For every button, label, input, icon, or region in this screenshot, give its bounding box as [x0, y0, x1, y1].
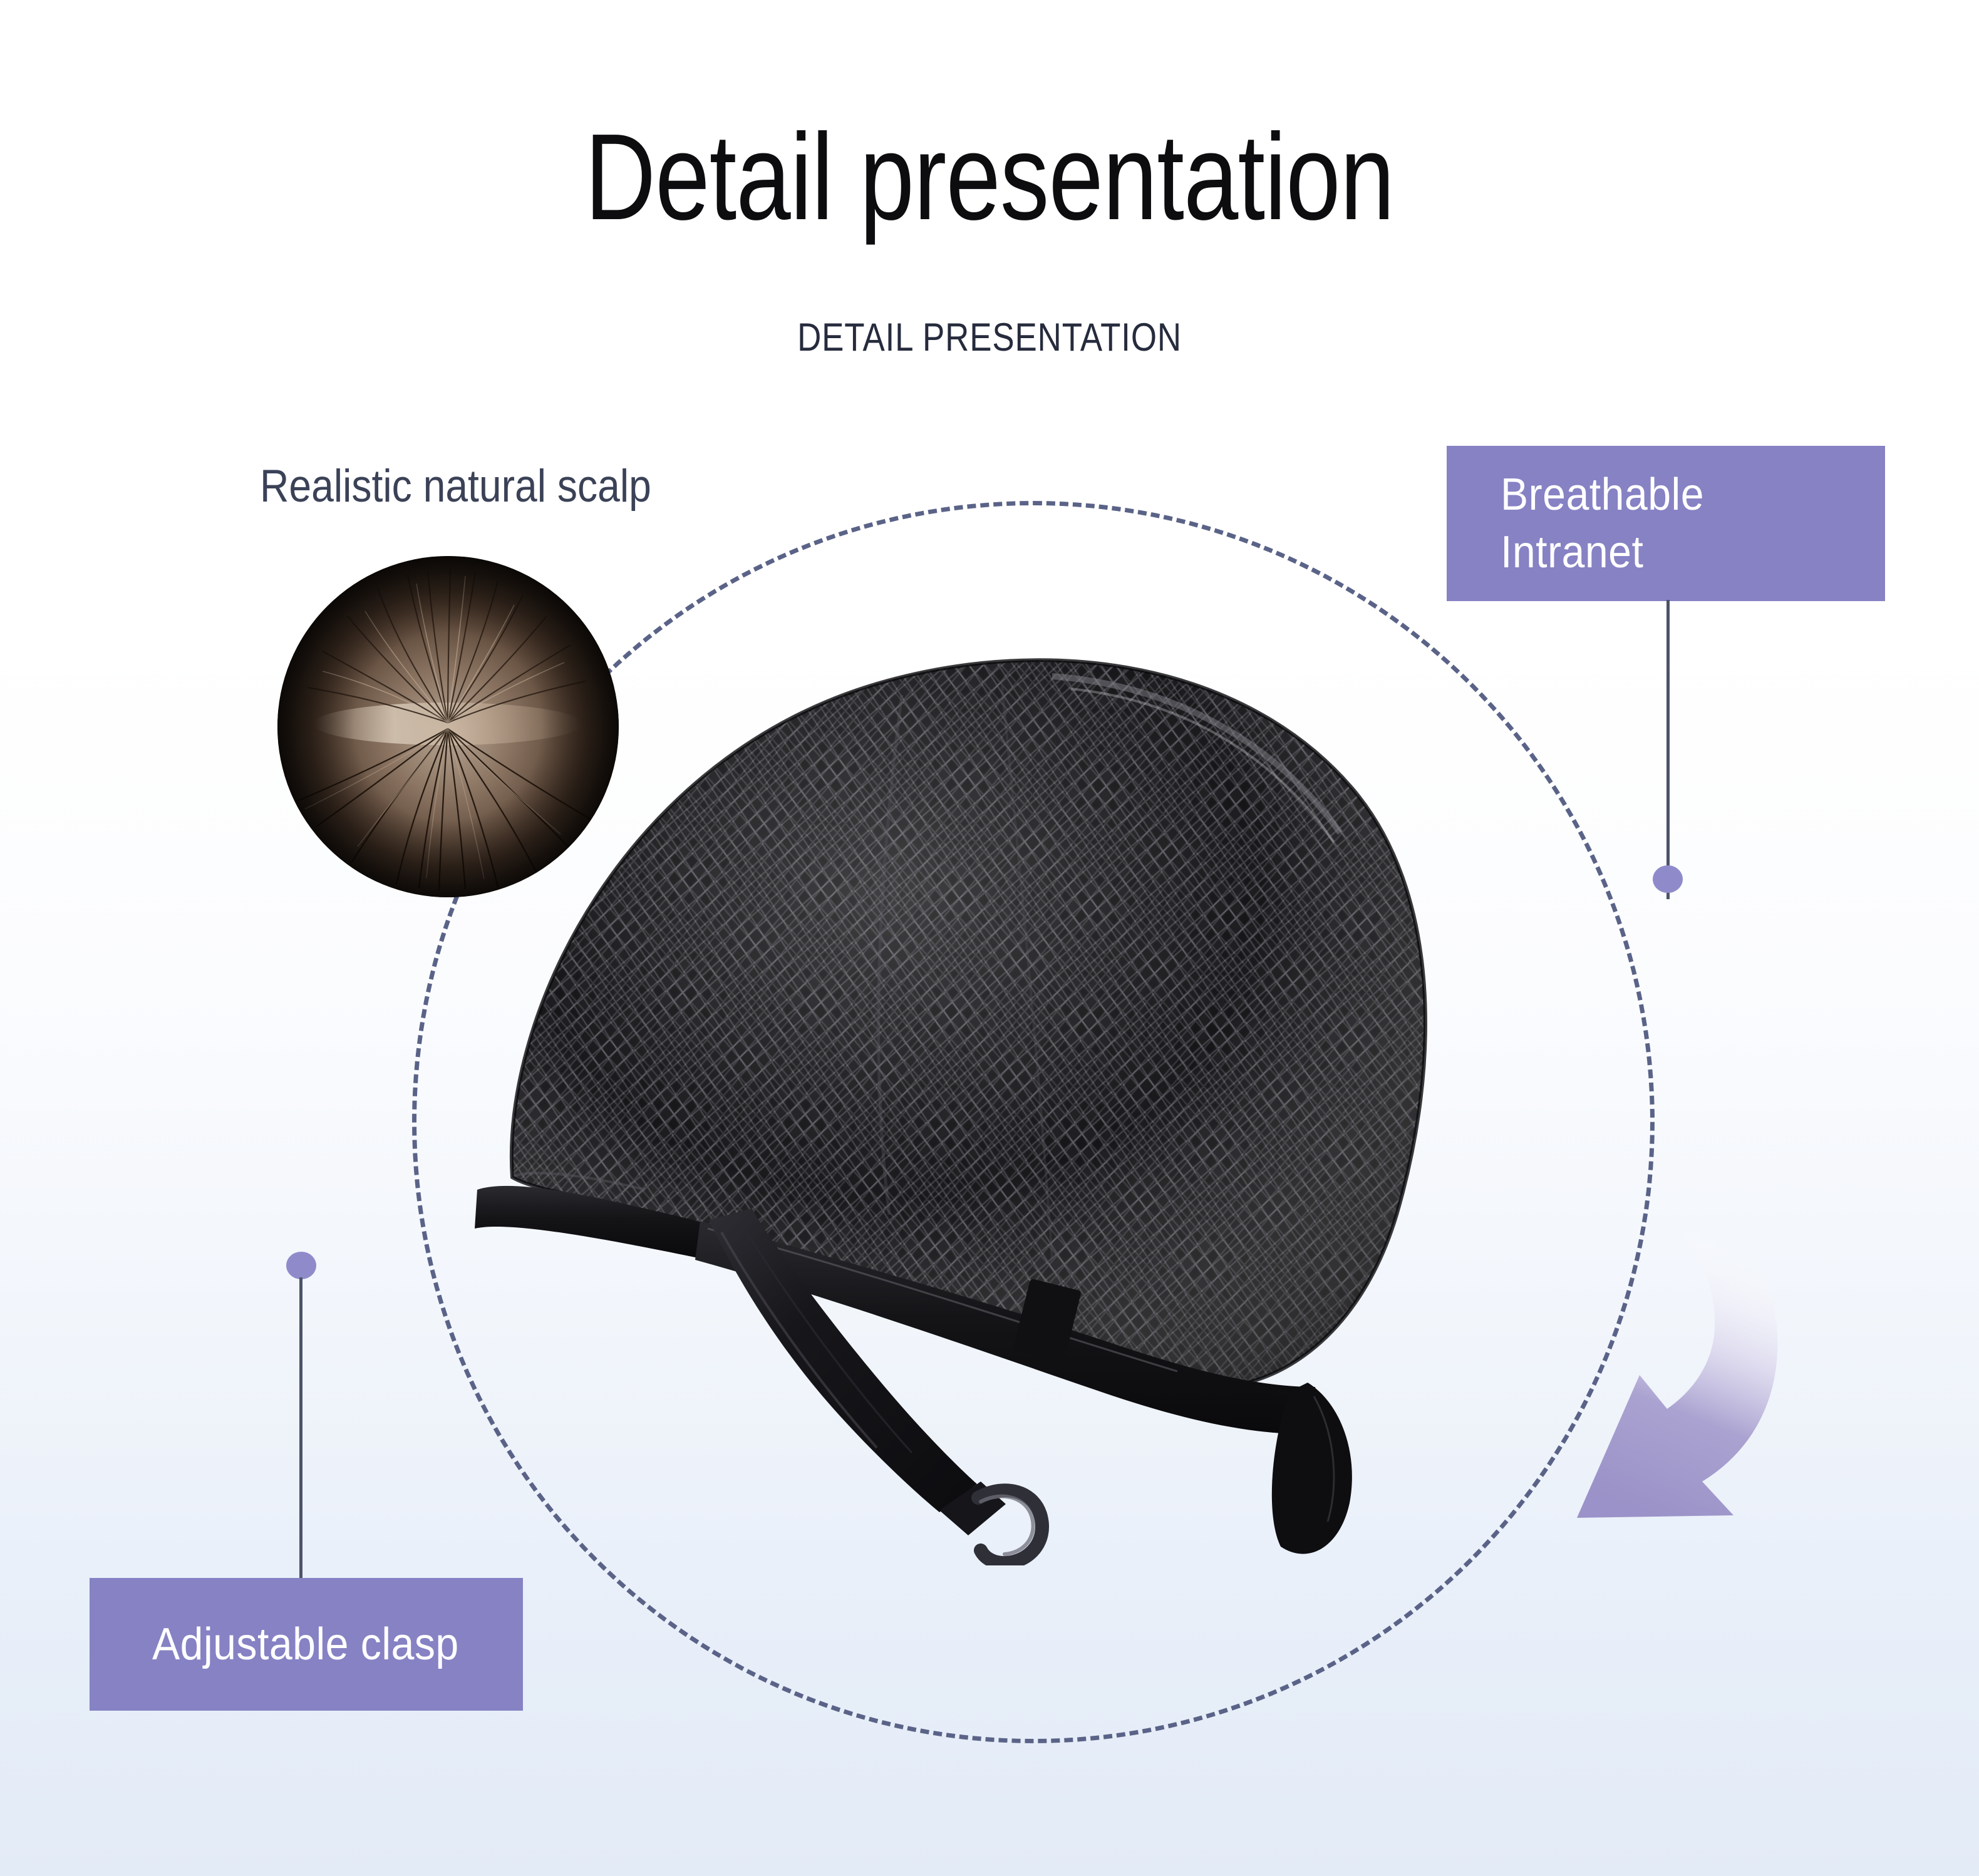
page-subtitle: DETAIL PRESENTATION: [158, 318, 1821, 358]
realistic-scalp-label: Realistic natural scalp: [260, 463, 651, 509]
badge-breathable-intranet[interactable]: Breathable Intranet: [1447, 446, 1885, 601]
callout-line-clasp: [299, 1277, 302, 1590]
badge-breathable-line1: Breathable: [1501, 466, 1704, 523]
page-title: Detail presentation: [198, 116, 1781, 239]
badge-breathable-line2: Intranet: [1501, 523, 1704, 581]
infographic-canvas: Detail presentation DETAIL PRESENTATION …: [0, 0, 1979, 1876]
callout-dot-breathable: [1653, 865, 1683, 893]
curved-down-left-arrow-icon: [1534, 1221, 1923, 1547]
badge-adjustable-clasp[interactable]: Adjustable clasp: [90, 1578, 523, 1711]
callout-line-breathable: [1666, 600, 1670, 899]
badge-clasp-text: Adjustable clasp: [152, 1616, 459, 1673]
callout-dot-clasp: [286, 1252, 316, 1279]
badge-breathable-text: Breathable Intranet: [1501, 466, 1704, 581]
realistic-scalp-inset: [277, 556, 619, 897]
